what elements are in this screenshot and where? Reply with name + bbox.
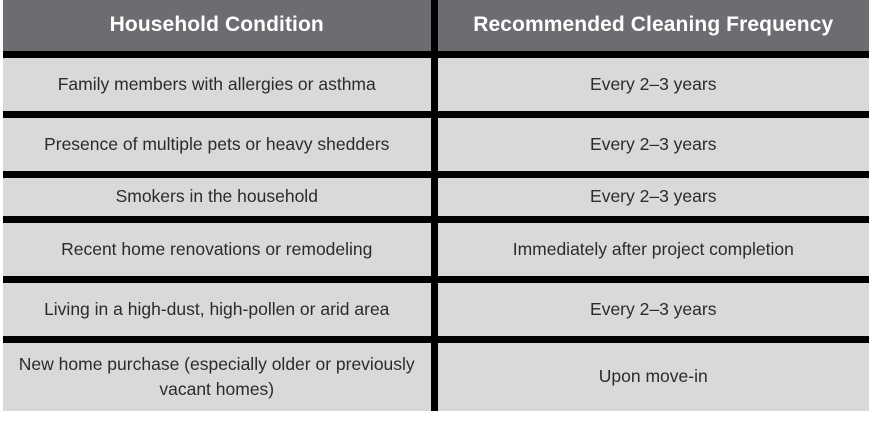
cell-condition: Living in a high-dust, high-pollen or ar… xyxy=(3,279,434,339)
cell-frequency: Every 2–3 years xyxy=(434,174,869,219)
table-row: Smokers in the household Every 2–3 years xyxy=(3,174,869,219)
cell-condition: Family members with allergies or asthma xyxy=(3,54,434,114)
cell-frequency: Every 2–3 years xyxy=(434,114,869,174)
cell-condition: Smokers in the household xyxy=(3,174,434,219)
cell-frequency: Upon move-in xyxy=(434,339,869,411)
table-row: Family members with allergies or asthma … xyxy=(3,54,869,114)
cleaning-frequency-table: Household Condition Recommended Cleaning… xyxy=(3,0,869,411)
cell-condition: New home purchase (especially older or p… xyxy=(3,339,434,411)
cell-condition: Presence of multiple pets or heavy shedd… xyxy=(3,114,434,174)
table-row: Recent home renovations or remodeling Im… xyxy=(3,219,869,279)
cell-frequency: Immediately after project completion xyxy=(434,219,869,279)
table-row: Presence of multiple pets or heavy shedd… xyxy=(3,114,869,174)
table-container: Household Condition Recommended Cleaning… xyxy=(0,0,872,444)
table-body: Family members with allergies or asthma … xyxy=(3,54,869,411)
table-header: Household Condition Recommended Cleaning… xyxy=(3,0,869,54)
cell-condition: Recent home renovations or remodeling xyxy=(3,219,434,279)
cell-frequency: Every 2–3 years xyxy=(434,279,869,339)
column-header-household-condition: Household Condition xyxy=(3,0,434,54)
cell-frequency: Every 2–3 years xyxy=(434,54,869,114)
table-header-row: Household Condition Recommended Cleaning… xyxy=(3,0,869,54)
table-row: Living in a high-dust, high-pollen or ar… xyxy=(3,279,869,339)
column-header-recommended-cleaning-frequency: Recommended Cleaning Frequency xyxy=(434,0,869,54)
table-row: New home purchase (especially older or p… xyxy=(3,339,869,411)
